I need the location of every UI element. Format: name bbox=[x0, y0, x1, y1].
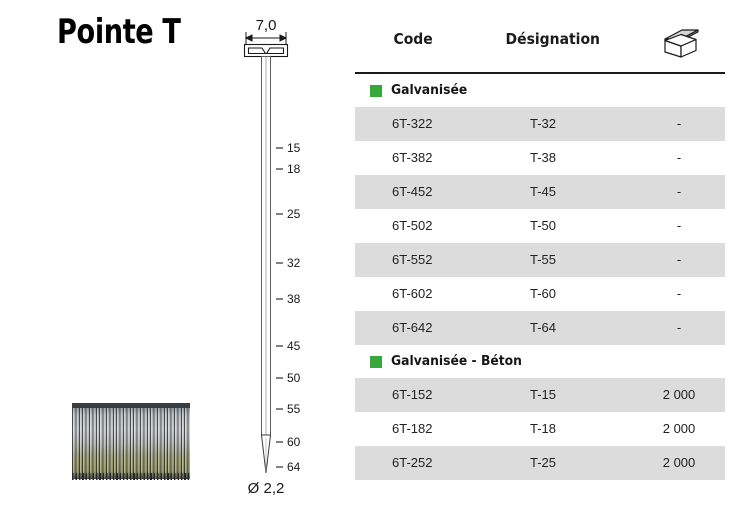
svg-text:25: 25 bbox=[287, 207, 301, 221]
table-section-label: Galvanisée - Béton bbox=[391, 354, 522, 369]
table-row[interactable]: 6T-382T-38- bbox=[355, 141, 725, 175]
nail-point bbox=[262, 435, 271, 473]
nail-strip-shanks bbox=[72, 403, 190, 479]
length-scale: 15 18 25 32 38 45 50 55 60 64 bbox=[276, 141, 301, 474]
table-section-header: Galvanisée bbox=[346, 74, 726, 107]
cell-designation: T-38 bbox=[530, 141, 556, 175]
svg-text:7,0: 7,0 bbox=[256, 17, 277, 34]
svg-text:55: 55 bbox=[287, 402, 301, 416]
header-divider bbox=[355, 72, 725, 74]
page-title: Pointe T bbox=[57, 12, 181, 52]
nail-head bbox=[245, 45, 288, 57]
table-row[interactable]: 6T-182T-182 000 bbox=[355, 412, 725, 446]
cell-quantity: - bbox=[677, 243, 681, 277]
cell-designation: T-18 bbox=[530, 412, 556, 446]
cell-designation: T-55 bbox=[530, 243, 556, 277]
table-row[interactable]: 6T-642T-64- bbox=[355, 311, 725, 345]
svg-text:60: 60 bbox=[287, 435, 301, 449]
cell-code: 6T-602 bbox=[392, 277, 432, 311]
cell-designation: T-60 bbox=[530, 277, 556, 311]
cell-quantity: - bbox=[677, 175, 681, 209]
table-row[interactable]: 6T-152T-152 000 bbox=[355, 378, 725, 412]
svg-text:18: 18 bbox=[287, 162, 301, 176]
svg-text:64: 64 bbox=[287, 460, 301, 474]
finish-color-swatch bbox=[370, 85, 382, 97]
nail-technical-drawing: 15 18 25 32 38 45 50 55 60 64 7,0 Ø 2,2 bbox=[222, 8, 347, 508]
cell-designation: T-32 bbox=[530, 107, 556, 141]
cell-code: 6T-642 bbox=[392, 311, 432, 345]
svg-text:32: 32 bbox=[287, 256, 301, 270]
cell-quantity: - bbox=[677, 209, 681, 243]
nail-strip-photo bbox=[72, 403, 190, 479]
specification-table: Code Désignation Galvanisée6T-322T-32-6T… bbox=[346, 14, 726, 480]
table-section-label: Galvanisée bbox=[391, 83, 467, 98]
table-body: Galvanisée6T-322T-32-6T-382T-38-6T-452T-… bbox=[346, 74, 726, 480]
svg-text:50: 50 bbox=[287, 371, 301, 385]
cell-designation: T-50 bbox=[530, 209, 556, 243]
svg-text:15: 15 bbox=[287, 141, 301, 155]
box-icon bbox=[662, 24, 702, 65]
cell-code: 6T-252 bbox=[392, 446, 432, 480]
cell-code: 6T-552 bbox=[392, 243, 432, 277]
nail-strip-heads bbox=[72, 403, 190, 408]
table-section-header: Galvanisée - Béton bbox=[346, 345, 726, 378]
cell-quantity: - bbox=[677, 107, 681, 141]
cell-quantity: 2 000 bbox=[663, 446, 696, 480]
cell-designation: T-64 bbox=[530, 311, 556, 345]
table-row[interactable]: 6T-602T-60- bbox=[355, 277, 725, 311]
cell-code: 6T-182 bbox=[392, 412, 432, 446]
table-row[interactable]: 6T-502T-50- bbox=[355, 209, 725, 243]
cell-code: 6T-322 bbox=[392, 107, 432, 141]
column-header-designation: Désignation bbox=[506, 30, 600, 48]
svg-text:Ø 2,2: Ø 2,2 bbox=[248, 480, 285, 497]
cell-code: 6T-152 bbox=[392, 378, 432, 412]
column-header-code: Code bbox=[393, 30, 432, 48]
finish-color-swatch bbox=[370, 356, 382, 368]
cell-code: 6T-382 bbox=[392, 141, 432, 175]
cell-code: 6T-452 bbox=[392, 175, 432, 209]
cell-quantity: 2 000 bbox=[663, 412, 696, 446]
cell-quantity: - bbox=[677, 277, 681, 311]
table-row[interactable]: 6T-322T-32- bbox=[355, 107, 725, 141]
cell-designation: T-25 bbox=[530, 446, 556, 480]
cell-quantity: 2 000 bbox=[663, 378, 696, 412]
cell-designation: T-45 bbox=[530, 175, 556, 209]
svg-text:38: 38 bbox=[287, 292, 301, 306]
table-row[interactable]: 6T-252T-252 000 bbox=[355, 446, 725, 480]
svg-text:45: 45 bbox=[287, 339, 301, 353]
cell-quantity: - bbox=[677, 311, 681, 345]
nail-shank bbox=[262, 57, 271, 436]
table-row[interactable]: 6T-452T-45- bbox=[355, 175, 725, 209]
cell-quantity: - bbox=[677, 141, 681, 175]
cell-designation: T-15 bbox=[530, 378, 556, 412]
nail-strip-points bbox=[72, 473, 190, 480]
table-header-row: Code Désignation bbox=[346, 14, 726, 72]
table-row[interactable]: 6T-552T-55- bbox=[355, 243, 725, 277]
cell-code: 6T-502 bbox=[392, 209, 432, 243]
